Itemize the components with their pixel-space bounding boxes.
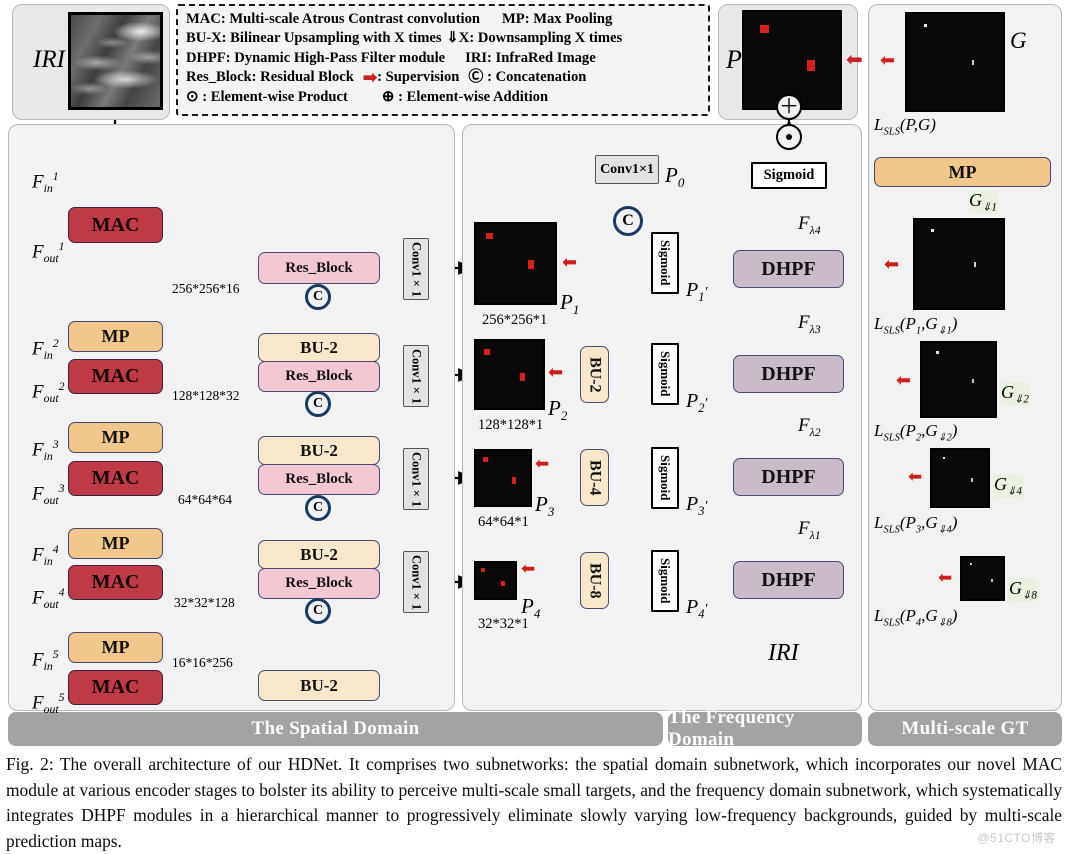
feature-label-fin4: Fin4 <box>32 543 59 569</box>
sigmoid-4[interactable]: Sigmoid <box>651 550 679 612</box>
mac-label: MAC <box>92 214 140 237</box>
prediction-size-1: 256*256*1 <box>482 312 547 329</box>
sigmoid-label: Sigmoid <box>764 167 815 184</box>
target-marker <box>483 457 488 462</box>
bu-2-spatial-4[interactable]: BU-2 <box>258 540 380 569</box>
mac-module-5[interactable]: MAC <box>68 670 163 705</box>
supervision-arrow-icon: ⬅ <box>908 468 922 485</box>
sigmoid-2[interactable]: Sigmoid <box>651 343 679 405</box>
target-marker <box>991 579 993 582</box>
mp-label: MP <box>102 326 130 347</box>
input-label: IRI <box>33 46 65 74</box>
bu-label: BU-2 <box>586 357 604 393</box>
supervision-arrow-icon: ⬅ <box>884 255 899 273</box>
legend-text: ⇓X: Downsampling X times <box>447 29 623 48</box>
bu-4-frequency[interactable]: BU-4 <box>580 449 609 506</box>
legend-row: DHPF: Dynamic High-Pass Filter module IR… <box>186 49 700 68</box>
legend-text: DHPF: Dynamic High-Pass Filter module <box>186 49 445 68</box>
feature-label-flambda3: Fλ3 <box>798 312 821 337</box>
gt-loss-4: LSLS(P4,G⇓8) <box>874 606 957 628</box>
legend-text: : Concatenation <box>483 68 586 87</box>
output-label: P <box>726 45 742 75</box>
concat-symbol: C <box>622 212 634 230</box>
mac-label: MAC <box>92 365 140 388</box>
gt-max-pool[interactable]: MP <box>874 157 1051 187</box>
concat-symbol: C <box>313 289 323 305</box>
gt-label-1: G⇓1 <box>968 190 998 214</box>
concat-icon-4: C <box>305 598 331 624</box>
res-block-3[interactable]: Res_Block <box>258 464 380 495</box>
target-marker <box>528 260 534 269</box>
legend-row: ⊙ : Element-wise Product ⊕ : Element-wis… <box>186 88 700 107</box>
res-block-label: Res_Block <box>285 368 353 385</box>
gt-loss-0: LSLS(P,G) <box>874 115 936 137</box>
bu-label: BU-2 <box>300 338 338 358</box>
feature-label-flambda1: Fλ1 <box>798 518 821 543</box>
target-marker <box>484 349 490 355</box>
target-marker <box>972 60 974 65</box>
prediction-image-2 <box>474 339 545 410</box>
iri-image <box>68 12 163 110</box>
target-marker <box>501 581 505 586</box>
conv1x1-label: Conv1×1 <box>409 555 424 610</box>
concat-symbol: C <box>313 500 323 516</box>
mp-label: MP <box>949 162 977 183</box>
concat-icon-2: C <box>305 391 331 417</box>
feature-label-fin5: Fin5 <box>32 648 59 674</box>
gt-label-0: G <box>1010 28 1027 54</box>
dhpf-module-2[interactable]: DHPF <box>733 355 844 393</box>
sum-icon: ＋ <box>776 94 802 120</box>
product-icon-dot <box>786 134 792 140</box>
res-block-1[interactable]: Res_Block <box>258 252 380 284</box>
mac-label: MAC <box>92 571 140 594</box>
sigmoid-out-label-4: P4′ <box>686 596 707 622</box>
feature-label-fout2: Fout2 <box>32 380 65 406</box>
legend-text: : Element-wise Addition <box>394 88 548 107</box>
mac-module-2[interactable]: MAC <box>68 359 163 394</box>
feature-label-fout4: Fout4 <box>32 586 65 612</box>
mp-label: MP <box>102 637 130 658</box>
gt-image-1 <box>913 218 1005 310</box>
concat-icon-1: C <box>305 284 331 310</box>
target-marker <box>972 379 974 383</box>
legend-row: Res_Block: Residual Block ➡ : Supervisio… <box>186 68 700 87</box>
mac-module-3[interactable]: MAC <box>68 461 163 496</box>
feature-label-fin2: Fin2 <box>32 337 59 363</box>
conv1x1-spatial-2[interactable]: Conv1×1 <box>403 345 429 407</box>
target-marker <box>971 478 973 482</box>
dhpf-module-3[interactable]: DHPF <box>733 458 844 496</box>
conv1x1-spatial-1[interactable]: Conv1×1 <box>403 238 429 300</box>
iri-input-label-frequency: IRI <box>768 640 799 667</box>
prediction-size-2: 128*128*1 <box>478 417 543 434</box>
dhpf-label: DHPF <box>761 363 815 386</box>
skip-dim-2: 128*128*32 <box>172 388 240 404</box>
gt-image-4 <box>960 556 1005 601</box>
feature-label-fout5: Fout5 <box>32 691 65 717</box>
legend-text: : Supervision <box>377 68 459 87</box>
feature-label-fout3: Fout3 <box>32 482 65 508</box>
dhpf-label: DHPF <box>761 466 815 489</box>
sigmoid-out-label-2: P2′ <box>686 390 707 416</box>
conv1x1-label: Conv1×1 <box>600 162 654 178</box>
res-block-4[interactable]: Res_Block <box>258 568 380 599</box>
gt-panel-header: Multi-scale GT <box>868 712 1062 746</box>
bu-2-spatial-2[interactable]: BU-2 <box>258 333 380 362</box>
prediction-label-3: P3 <box>535 492 554 520</box>
sigmoid-out-label-3: P3′ <box>686 493 707 519</box>
legend-text: IRI: InfraRed Image <box>465 49 596 68</box>
sigmoid-label: Sigmoid <box>657 558 673 604</box>
bu-label: BU-4 <box>586 460 604 496</box>
concat-symbol: C <box>313 396 323 412</box>
conv1x1-spatial-4[interactable]: Conv1×1 <box>403 551 429 613</box>
res-block-label: Res_Block <box>285 471 353 488</box>
gt-image-3 <box>930 448 990 508</box>
concat-icon-frequency: C <box>613 206 643 236</box>
figure-caption: Fig. 2: The overall architecture of our … <box>6 752 1062 854</box>
spatial-domain-header: The Spatial Domain <box>8 712 663 746</box>
target-marker <box>924 24 927 27</box>
legend-text: : Element-wise Product <box>199 88 348 107</box>
bu-label: BU-8 <box>586 563 604 599</box>
product-icon: ⊙ <box>186 88 199 107</box>
supervision-arrow-icon: ⬅ <box>521 560 535 577</box>
feature-label-fin1: Fin1 <box>32 170 59 196</box>
concat-symbol: C <box>313 603 323 619</box>
dhpf-module-4[interactable]: DHPF <box>733 561 844 599</box>
conv1x1-label: Conv1×1 <box>409 242 424 297</box>
target-marker <box>486 233 493 239</box>
target-marker <box>481 568 485 572</box>
supervision-arrow-icon: ⬅ <box>880 51 895 69</box>
dhpf-module-1[interactable]: DHPF <box>733 250 844 288</box>
skip-dim-1: 256*256*16 <box>172 281 240 297</box>
dhpf-label: DHPF <box>761 569 815 592</box>
conv1x1-label: Conv1×1 <box>409 349 424 404</box>
prediction-label-2: P2 <box>548 396 567 424</box>
supervision-arrow-icon: ➡ <box>363 68 375 87</box>
prediction-image-1 <box>474 222 557 305</box>
sigmoid-label: Sigmoid <box>657 351 673 397</box>
feature-label-flambda2: Fλ2 <box>798 415 821 440</box>
gt-label-4: G⇓8 <box>1008 578 1038 602</box>
prediction-label-1: P1 <box>560 290 579 318</box>
frequency-domain-title: The Frequency Domain <box>668 707 862 751</box>
feature-label-fin3: Fin3 <box>32 438 59 464</box>
supervision-arrow-icon: ⬅ <box>896 371 911 389</box>
target-marker <box>943 457 945 459</box>
legend-text: BU-X: Bilinear Upsampling with X times <box>186 29 442 48</box>
bu-8-frequency[interactable]: BU-8 <box>580 552 609 609</box>
sigmoid-top[interactable]: Sigmoid <box>751 162 827 189</box>
target-marker <box>760 25 769 33</box>
target-marker <box>520 373 525 381</box>
bu-2-spatial-5[interactable]: BU-2 <box>258 670 380 701</box>
sigmoid-1[interactable]: Sigmoid <box>651 232 679 294</box>
skip-dim-5: 16*16*256 <box>172 655 233 671</box>
bu-2-frequency[interactable]: BU-2 <box>580 346 609 403</box>
mp-label: MP <box>102 533 130 554</box>
target-marker <box>931 229 934 232</box>
gt-label-3: G⇓4 <box>993 474 1023 498</box>
conv1x1-spatial-3[interactable]: Conv1×1 <box>403 448 429 510</box>
legend-row: MAC: Multi-scale Atrous Contrast convolu… <box>186 10 700 29</box>
legend-text: MP: Max Pooling <box>502 10 612 29</box>
feature-label-flambda4: Fλ4 <box>798 213 821 238</box>
frequency-domain-header: The Frequency Domain <box>668 712 862 746</box>
supervision-arrow-icon: ⬅ <box>846 50 863 70</box>
bu-label: BU-2 <box>300 545 338 565</box>
supervision-arrow-icon: ⬅ <box>548 363 563 381</box>
gt-loss-1: LSLS(P1,G⇓1) <box>874 314 957 336</box>
gt-loss-3: LSLS(P3,G⇓4) <box>874 513 957 535</box>
watermark: @51CTO博客 <box>977 829 1056 846</box>
max-pool-5[interactable]: MP <box>68 632 163 663</box>
sigmoid-label: Sigmoid <box>657 455 673 501</box>
skip-dim-4: 32*32*128 <box>174 595 235 611</box>
gt-panel-title: Multi-scale GT <box>901 718 1028 740</box>
max-pool-2[interactable]: MP <box>68 321 163 352</box>
p0-label: P0 <box>665 163 684 191</box>
mac-label: MAC <box>92 676 140 699</box>
sigmoid-out-label-1: P1′ <box>686 279 707 305</box>
res-block-2[interactable]: Res_Block <box>258 361 380 392</box>
max-pool-4[interactable]: MP <box>68 528 163 559</box>
target-marker <box>970 563 972 565</box>
legend-box: MAC: Multi-scale Atrous Contrast convolu… <box>176 4 710 116</box>
legend-text: MAC: Multi-scale Atrous Contrast convolu… <box>186 10 480 29</box>
max-pool-3[interactable]: MP <box>68 422 163 453</box>
supervision-arrow-icon: ⬅ <box>535 455 549 472</box>
supervision-arrow-icon: ⬅ <box>938 569 952 586</box>
target-marker <box>512 477 516 484</box>
mp-label: MP <box>102 427 130 448</box>
mac-module-1[interactable]: MAC <box>68 207 163 243</box>
target-marker <box>974 262 976 267</box>
sum-icon: ⊕ <box>382 88 395 107</box>
prediction-size-4: 32*32*1 <box>478 616 529 633</box>
legend-row: BU-X: Bilinear Upsampling with X times ⇓… <box>186 29 700 48</box>
conv1x1-label: Conv1×1 <box>409 452 424 507</box>
skip-dim-3: 64*64*64 <box>178 492 232 508</box>
dhpf-label: DHPF <box>761 258 815 281</box>
target-marker <box>807 60 815 71</box>
feature-label-fout1: Fout1 <box>32 240 65 266</box>
res-block-label: Res_Block <box>285 575 353 592</box>
prediction-image-4 <box>474 561 517 600</box>
mac-module-4[interactable]: MAC <box>68 565 163 600</box>
supervision-arrow-icon: ⬅ <box>562 253 577 271</box>
res-block-label: Res_Block <box>285 260 353 277</box>
prediction-image-3 <box>474 449 532 507</box>
concat-icon: Ⓒ <box>468 68 483 87</box>
gt-image-0 <box>905 12 1005 112</box>
gt-image-2 <box>920 341 997 418</box>
target-marker <box>936 351 939 354</box>
mac-label: MAC <box>92 467 140 490</box>
sigmoid-3[interactable]: Sigmoid <box>651 447 679 509</box>
bu-label: BU-2 <box>300 441 338 461</box>
bu-2-spatial-3[interactable]: BU-2 <box>258 436 380 465</box>
concat-icon-3: C <box>305 495 331 521</box>
spatial-domain-title: The Spatial Domain <box>252 718 420 740</box>
prediction-size-3: 64*64*1 <box>478 514 529 531</box>
conv1x1-frequency-top[interactable]: Conv1×1 <box>595 155 659 184</box>
legend-text: Res_Block: Residual Block <box>186 68 354 87</box>
sigmoid-label: Sigmoid <box>657 240 673 286</box>
figure-diagram: IRI MAC: Multi-scale Atrous Contrast con… <box>0 0 1068 748</box>
gt-label-2: G⇓2 <box>1000 382 1030 406</box>
gt-loss-2: LSLS(P2,G⇓2) <box>874 421 957 443</box>
bu-label: BU-2 <box>300 676 338 696</box>
